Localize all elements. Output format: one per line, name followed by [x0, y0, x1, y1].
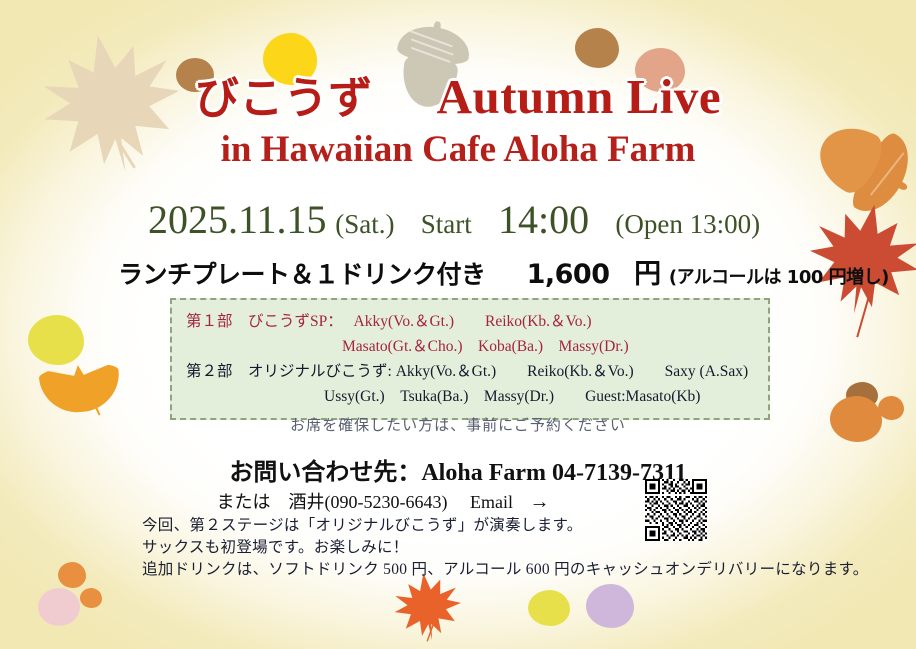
part1-row-1: 第１部 びこうずSP： Akky(Vo.＆Gt.) Reiko(Kb.＆Vo.) [172, 309, 768, 334]
part2-label: 第２部 [186, 363, 233, 380]
member-list-box: 第１部 びこうずSP： Akky(Vo.＆Gt.) Reiko(Kb.＆Vo.)… [170, 298, 770, 420]
price-includes: ランチプレート＆１ドリンク付き [118, 260, 486, 289]
note-line-1: 今回、第２ステージは「オリジナルびこうず」が演奏します。 [142, 515, 869, 537]
part2-row-2: Ussy(Gt.) Tsuka(Ba.) Massy(Dr.) Guest:Ma… [172, 384, 768, 409]
contact-alt-name-phone: 酒井(090-5230-6643) [289, 492, 448, 512]
title-japanese: びこうず [195, 74, 373, 123]
event-date-line: 2025.11.15 (Sat.) Start 14:00 (Open 13:0… [148, 196, 760, 243]
start-time: 14:00 [498, 197, 589, 242]
contact-alt-prefix: または [217, 492, 271, 512]
open-time: (Open 13:00) [615, 209, 760, 239]
page-subtitle: in Hawaiian Cafe Aloha Farm [0, 128, 916, 171]
part1-row-2: Masato(Gt.＆Cho.) Koba(Ba.) Massy(Dr.) [172, 334, 768, 359]
part1-band: びこうずSP： [248, 313, 343, 330]
flyer-poster: びこうず Autumn Live in Hawaiian Cafe Aloha … [0, 0, 916, 649]
price-currency: 円 [634, 259, 661, 290]
part1-members-2: Masato(Gt.＆Cho.) Koba(Ba.) Massy(Dr.) [342, 338, 629, 355]
note-line-2: サックスも初登場です。お楽しみに！ [142, 537, 869, 559]
note-line-3: 追加ドリンクは、ソフトドリンク 500 円、アルコール 600 円のキャッシュオ… [142, 559, 869, 581]
part2-row-1: 第２部 オリジナルびこうず: Akky(Vo.＆Gt.) Reiko(Kb.＆V… [172, 359, 768, 384]
price-amount: 1,600 [527, 259, 610, 290]
contact-main: お問い合わせ先：Aloha Farm 04-7139-7311 [0, 452, 916, 487]
price-note: (アルコールは 100 円増し) [669, 267, 889, 288]
contact-alternate: または 酒井(090-5230-6643) Email → [0, 488, 916, 514]
start-label: Start [421, 209, 472, 239]
part2-members-1: Akky(Vo.＆Gt.) Reiko(Kb.＆Vo.) Saxy (A.Sax… [396, 363, 748, 380]
page-title: びこうず Autumn Live [0, 62, 916, 126]
additional-notes: 今回、第２ステージは「オリジナルびこうず」が演奏します。 サックスも初登場です。… [142, 515, 869, 581]
part2-band: オリジナルびこうず: [248, 363, 392, 380]
arrow-right-icon: → [517, 491, 549, 513]
email-label: Email [470, 492, 513, 512]
title-english: Autumn Live [437, 69, 722, 124]
part2-members-2: Ussy(Gt.) Tsuka(Ba.) Massy(Dr.) Guest:Ma… [324, 388, 700, 405]
reservation-note: お席を確保したい方は、事前にご予約ください [0, 414, 916, 435]
part1-members-1: Akky(Vo.＆Gt.) Reiko(Kb.＆Vo.) [354, 313, 592, 330]
event-weekday: (Sat.) [335, 209, 394, 239]
part1-label: 第１部 [186, 313, 233, 330]
event-date: 2025.11.15 [148, 197, 327, 242]
price-line: ランチプレート＆１ドリンク付き 1,600 円 (アルコールは 100 円増し) [118, 252, 889, 291]
